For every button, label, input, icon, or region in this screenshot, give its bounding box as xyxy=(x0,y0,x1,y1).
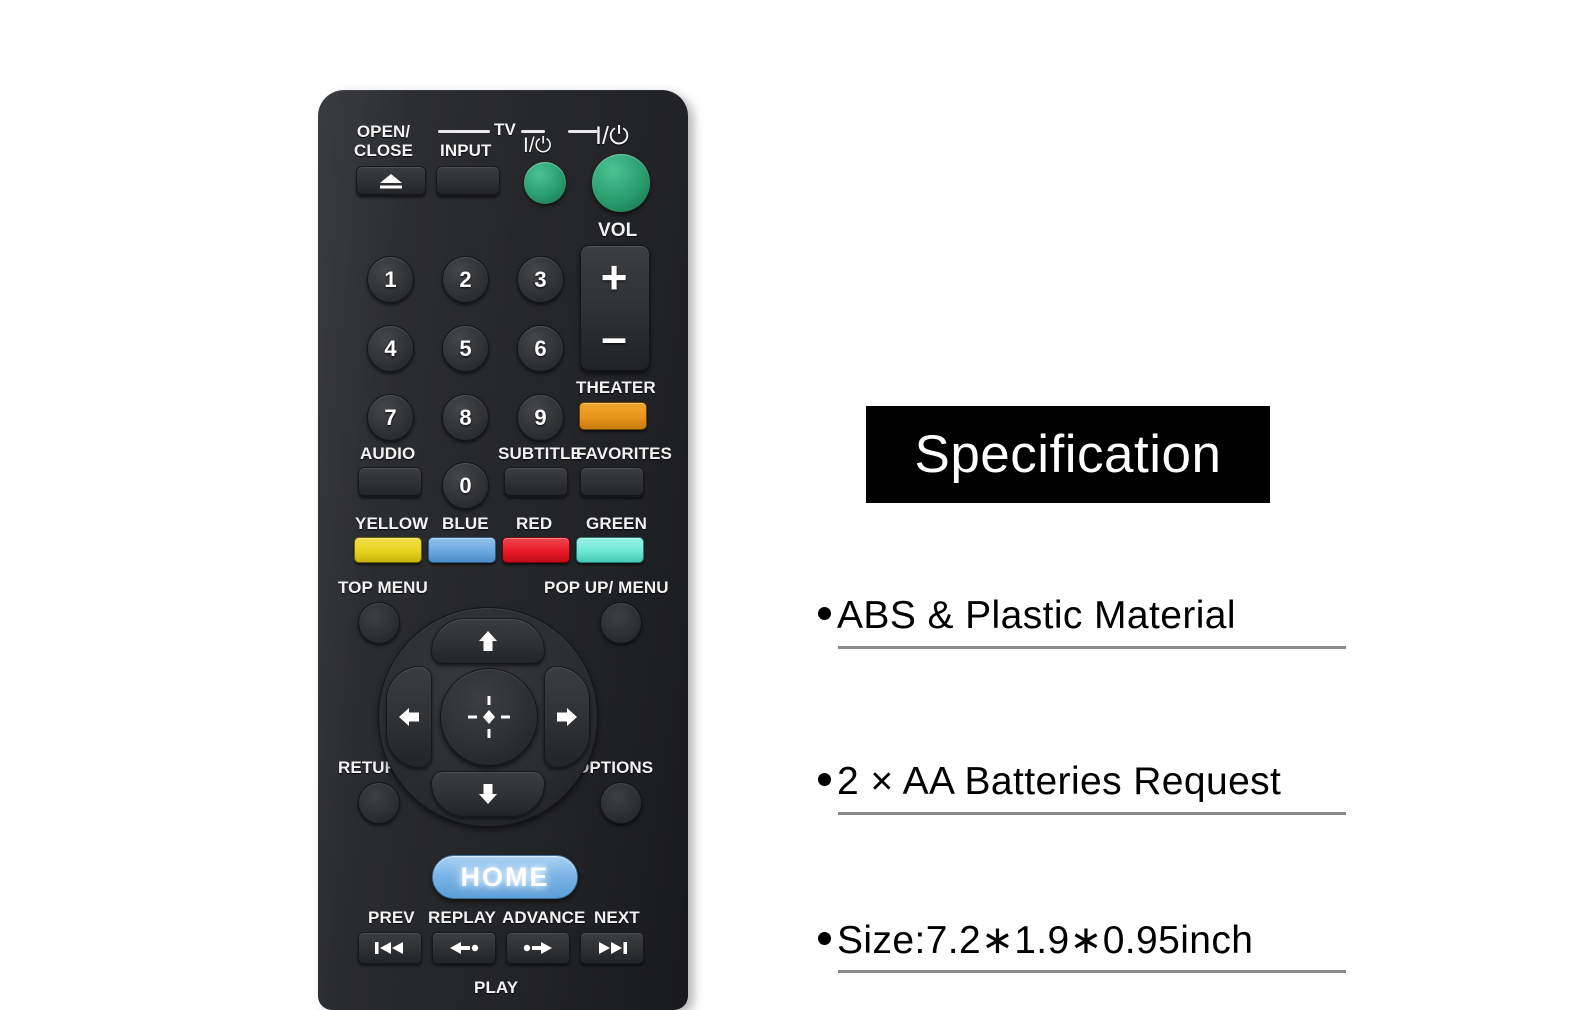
spec-item-material: ABS & Plastic Material xyxy=(818,594,1358,638)
tv-power-label: I/⏻ xyxy=(523,134,552,158)
dpad-left-button[interactable] xyxy=(386,666,432,768)
theater-button[interactable] xyxy=(579,402,647,430)
tv-bracket-line-right xyxy=(568,130,598,133)
spec-item-size: Size:7.2∗1.9∗0.95inch xyxy=(818,918,1358,963)
vol-label: VOL xyxy=(598,220,637,242)
pop-up-menu-button[interactable] xyxy=(600,602,642,644)
replay-button[interactable] xyxy=(432,932,496,964)
number-button-1[interactable]: 1 xyxy=(367,256,414,303)
home-button[interactable]: HOME xyxy=(432,855,578,899)
spec-material-text: ABS & Plastic Material xyxy=(837,594,1236,637)
top-menu-button[interactable] xyxy=(358,602,400,644)
tv-label: TV xyxy=(494,120,516,140)
dpad-right-button[interactable] xyxy=(544,666,590,768)
number-button-3[interactable]: 3 xyxy=(517,256,564,303)
yellow-label: YELLOW xyxy=(355,514,428,534)
dpad-enter-button[interactable] xyxy=(440,668,538,766)
pop-up-menu-label: POP UP/ MENU xyxy=(544,578,669,598)
input-label: INPUT xyxy=(440,141,492,161)
subtitle-label: SUBTITLE xyxy=(498,444,582,464)
number-button-6[interactable]: 6 xyxy=(517,325,564,372)
next-label: NEXT xyxy=(594,908,640,928)
tv-bracket-line-left xyxy=(438,130,490,133)
main-power-button[interactable] xyxy=(592,154,650,212)
open-close-line-1: OPEN/ xyxy=(357,122,410,141)
number-button-9[interactable]: 9 xyxy=(517,394,564,441)
number-button-8[interactable]: 8 xyxy=(442,394,489,441)
volume-down-button[interactable]: – xyxy=(580,308,648,366)
return-button[interactable] xyxy=(358,782,400,824)
prev-button[interactable] xyxy=(358,932,422,964)
favorites-label: FAVORITES xyxy=(576,444,672,464)
number-button-2[interactable]: 2 xyxy=(442,256,489,303)
play-label: PLAY xyxy=(474,978,518,998)
spec-batteries-text-row: 2 × AA Batteries Request xyxy=(818,760,1358,804)
number-button-0[interactable]: 0 xyxy=(442,462,489,509)
replay-label: REPLAY xyxy=(428,908,496,928)
audio-button[interactable] xyxy=(358,467,422,497)
specification-header-text: Specification xyxy=(914,424,1221,485)
number-button-5[interactable]: 5 xyxy=(442,325,489,372)
theater-label: THEATER xyxy=(576,378,656,398)
spec-size-text-row: Size:7.2∗1.9∗0.95inch xyxy=(818,918,1358,963)
spec-batteries-text: 2 × AA Batteries Request xyxy=(837,760,1281,803)
dpad-up-button[interactable] xyxy=(431,618,545,664)
specification-header: Specification xyxy=(866,406,1270,503)
subtitle-button[interactable] xyxy=(504,467,568,497)
audio-label: AUDIO xyxy=(360,444,415,464)
tv-power-button[interactable] xyxy=(524,162,566,204)
volume-up-button[interactable]: + xyxy=(580,248,648,306)
spec-rule-2 xyxy=(838,812,1346,815)
prev-label: PREV xyxy=(368,908,415,928)
open-close-button[interactable] xyxy=(356,166,426,196)
blue-button[interactable] xyxy=(428,537,496,563)
advance-button[interactable] xyxy=(506,932,570,964)
spec-bullet-icon xyxy=(818,932,831,945)
top-menu-label: TOP MENU xyxy=(338,578,428,598)
favorites-button[interactable] xyxy=(580,467,644,497)
open-close-label: OPEN/ CLOSE xyxy=(354,122,413,160)
spec-size-text: Size:7.2∗1.9∗0.95inch xyxy=(837,919,1253,962)
input-button[interactable] xyxy=(436,166,500,196)
yellow-button[interactable] xyxy=(354,537,422,563)
main-power-label: I/⏻ xyxy=(595,122,629,151)
remote-control-body: OPEN/ CLOSE TV INPUT I/⏻ I/⏻ VOL + – 1 2… xyxy=(318,90,688,1010)
spec-material-text-row: ABS & Plastic Material xyxy=(818,594,1358,638)
spec-rule-3 xyxy=(838,970,1346,973)
next-button[interactable] xyxy=(580,932,644,964)
advance-label: ADVANCE xyxy=(502,908,586,928)
green-label: GREEN xyxy=(586,514,647,534)
spec-item-batteries: 2 × AA Batteries Request xyxy=(818,760,1358,804)
red-button[interactable] xyxy=(502,537,570,563)
red-label: RED xyxy=(516,514,552,534)
number-button-7[interactable]: 7 xyxy=(367,394,414,441)
dpad-down-button[interactable] xyxy=(431,771,545,817)
blue-label: BLUE xyxy=(442,514,489,534)
spec-rule-1 xyxy=(838,646,1346,649)
spec-bullet-icon xyxy=(818,773,831,786)
number-button-4[interactable]: 4 xyxy=(367,325,414,372)
tv-bracket-line-mid xyxy=(521,130,545,133)
open-close-line-2: CLOSE xyxy=(354,141,413,160)
green-button[interactable] xyxy=(576,537,644,563)
spec-bullet-icon xyxy=(818,607,831,620)
options-button[interactable] xyxy=(600,782,642,824)
